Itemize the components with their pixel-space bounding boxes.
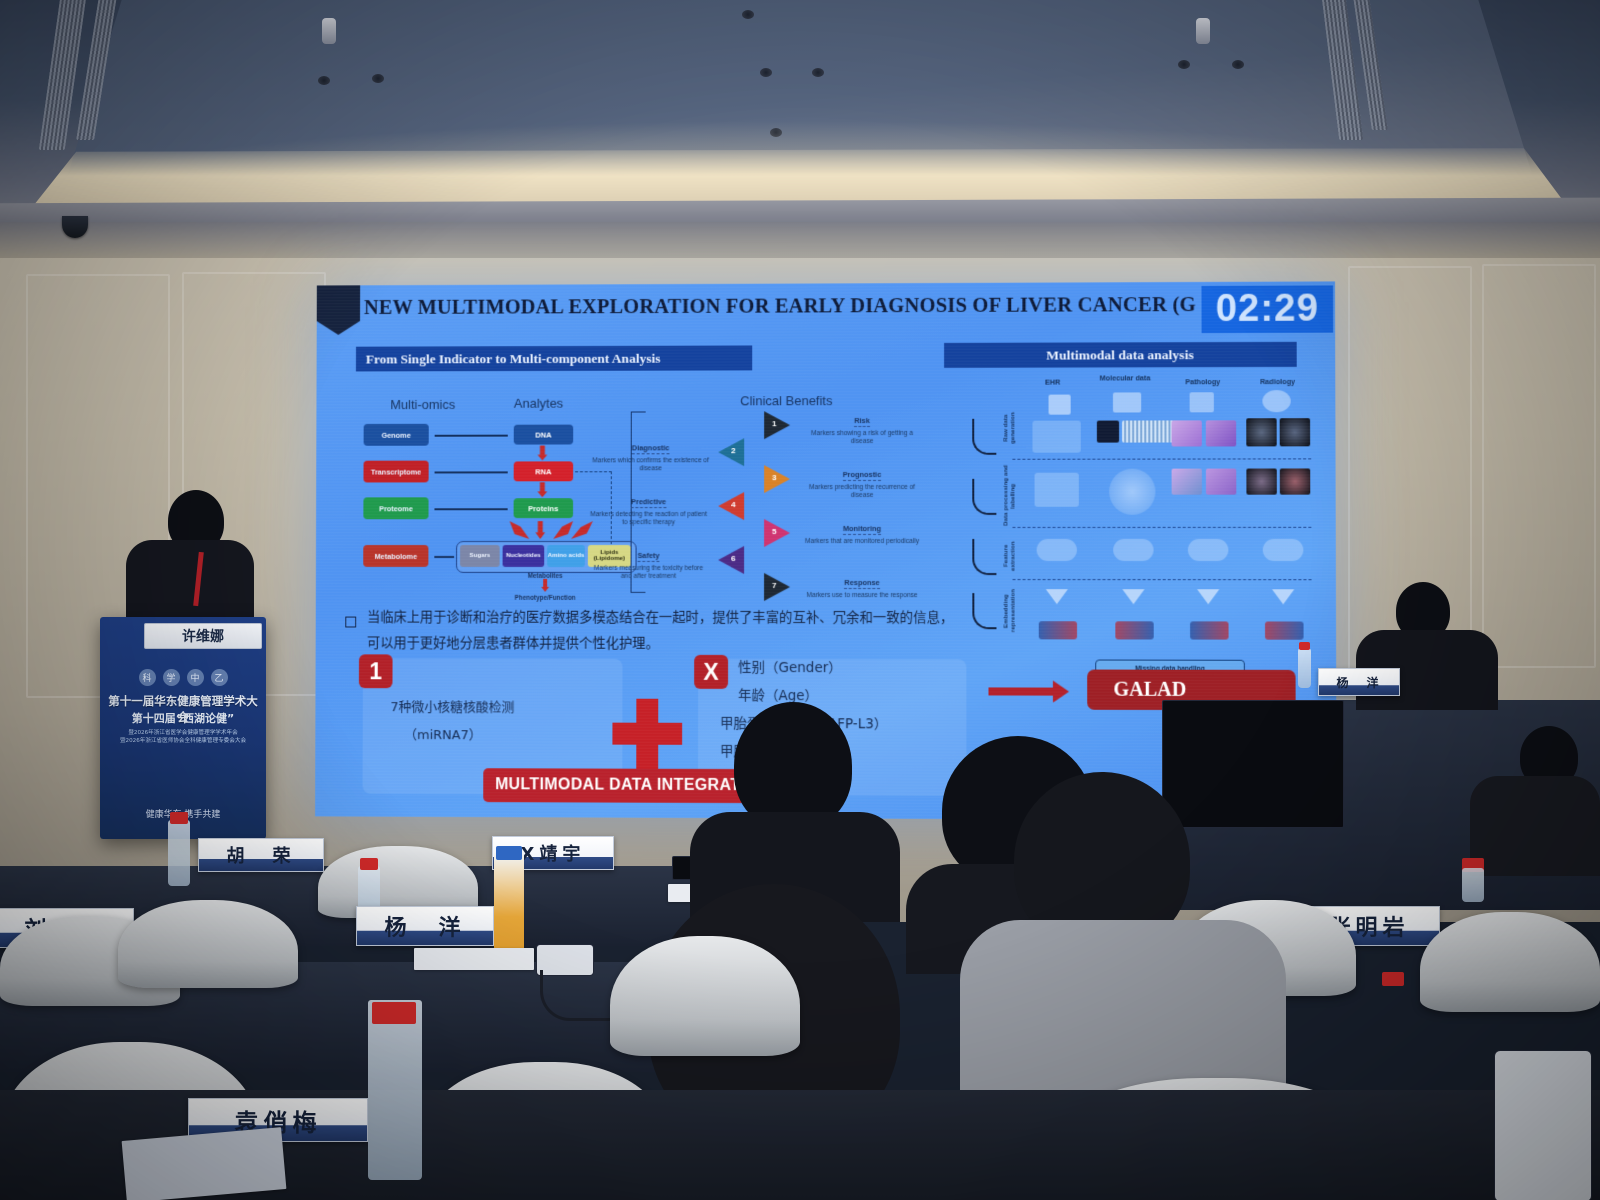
ceiling-downlight-6 [1232,60,1244,69]
connector-metabolome-metabolites [434,556,454,557]
bullet-line-2: 可以用于更好地分层患者群体并提供个性化护理。 [367,634,1005,656]
podium-nameplate: 许维娜 [144,623,262,649]
plus-sign-horizontal [612,723,682,745]
ceiling-downlight-7 [742,10,754,19]
benefit-triangle-1 [764,411,790,439]
mm-row-raw-data: Raw data generation [1002,399,1016,457]
slide-title: NEW MULTIMODAL EXPLORATION FOR EARLY DIA… [364,294,1303,320]
radiology-scan-raw-2 [1280,418,1310,446]
podium-logo-icon-2: 学 [163,669,180,686]
radiology-scan-raw-1 [1246,418,1276,446]
benefit-desc-monitoring: Markers that are monitored periodically [802,538,922,546]
molecular-network-proc [1109,469,1155,515]
funnel-pathology-icon [1197,589,1219,604]
feature-cloud-ehr-icon [1037,539,1077,561]
benefit-name-predictive: Predictive [631,497,666,508]
podium: 许维娜 科 学 中 乙 第十一届华东健康管理学术大会 第十四届“西湖论健” 暨2… [100,617,266,839]
integration-right-badge: X [694,655,728,689]
section-header-left: From Single Indicator to Multi-component… [356,345,752,371]
connector-proteome-proteins [434,508,507,510]
radiology-scan-proc-1 [1246,468,1276,494]
benefit-item-response: Response Markers use to measure the resp… [802,572,922,600]
section-header-right: Multimodal data analysis [944,342,1297,368]
ehr-processing-icon [1035,473,1079,507]
connector-transcriptome-rna [435,471,508,473]
cohort-molecular-icon [1115,621,1153,639]
presentation-timer: 02:29 [1201,285,1333,333]
mm-row-embedding: Embedding representation [1002,583,1016,639]
ehr-network-icon [1032,421,1080,453]
wall-upper-band [0,222,1600,258]
result-arrow-line [988,687,1054,695]
benefit-desc-diagnostic: Markers which confirms the existence of … [591,457,710,474]
ceiling-downlight-3 [760,68,772,77]
benefit-number-2: 2 [731,446,735,455]
clinical-benefits-title: Clinical Benefits [740,393,832,408]
document-front [122,1127,287,1200]
water-bottle-front [368,1000,422,1180]
integration-left-text-2: （miRNA7） [404,724,602,749]
arrow-metabolites-phenotype [541,579,549,592]
chair-row2-b [118,900,298,988]
chair-row2-d [1420,912,1600,1012]
funnel-radiology-icon [1272,589,1294,604]
radiology-scanner-icon [1262,390,1290,412]
laptop-screen [1162,700,1344,828]
benefit-desc-response: Markers use to measure the response [802,592,922,600]
bottle-cap-center [1382,972,1404,986]
feature-cloud-molecular-icon [1113,539,1153,561]
juice-bottle-cap [496,846,522,860]
water-bottle-right-table [1462,868,1484,902]
metabolites-label: Metabolites [486,573,605,580]
integration-left-badge: 1 [359,654,393,688]
funnel-ehr-icon [1046,589,1068,604]
mm-column-ehr: EHR [1024,379,1080,387]
cohort-radiology-icon [1265,621,1304,639]
pathology-slide-proc-1 [1172,469,1202,495]
process-arrow-3-icon [972,539,996,575]
benefit-triangle-5 [764,519,790,547]
metabolite-amino-acids: Amino acids [547,545,585,567]
molecular-sequence-raw [1122,420,1177,442]
benefit-item-predictive: Predictive Markers detecting the reactio… [589,491,708,527]
podium-logo-icon-4: 乙 [211,669,228,686]
bottle-cap-front [372,1002,416,1024]
cohort-ehr-icon [1039,621,1077,639]
wall-panel-4 [1482,264,1596,668]
benefit-name-safety: Safety [637,551,659,562]
funnel-molecular-icon [1122,589,1144,604]
benefit-desc-risk: Markers showing a risk of getting a dise… [802,430,922,447]
benefit-number-3: 3 [772,473,776,482]
cable-row2 [540,970,613,1021]
slide-corner-decor [317,285,360,335]
molecular-heatmap-raw [1097,421,1119,443]
mm-column-molecular: Molecular data [1097,374,1153,382]
mm-column-pathology: Pathology [1173,378,1232,386]
radiology-scan-proc-2 [1280,468,1310,494]
metabolite-sugars: Sugars [460,545,500,567]
benefit-name-response: Response [844,578,879,589]
document-row2 [414,948,534,970]
chair-mid-a [610,936,800,1056]
benefit-name-diagnostic: Diagnostic [632,443,670,454]
bottle-cap-panel [1299,642,1310,650]
bottle-cap-row1-a [170,812,188,824]
benefit-name-prognostic: Prognostic [843,470,882,481]
ceiling-downlight-5 [1178,60,1190,69]
pathology-slide-proc-2 [1206,469,1236,495]
pathology-slide-raw-2 [1206,420,1236,446]
connector-genome-dna [435,435,508,437]
omics-box-proteome: Proteome [363,497,428,519]
arrow-rna-proteins [537,482,547,497]
benefit-desc-safety: Markers measuring the toxicity before an… [589,565,708,581]
omics-box-transcriptome: Transcriptome [363,461,428,483]
audience-body-3 [960,920,1286,1100]
bullet-marker [345,617,356,628]
ehr-icon [1049,395,1071,415]
benefit-name-risk: Risk [854,416,870,427]
bottle-cap-row1-b [360,858,378,870]
benefit-triangle-3 [764,465,790,493]
benefit-item-monitoring: Monitoring Markers that are monitored pe… [802,518,922,546]
analyte-box-dna: DNA [514,425,573,445]
integration-left-text-1: 7种微小核糖核酸检测 [390,696,608,721]
metabolite-nucleotides: Nucleotides [503,545,545,567]
mm-row-feature-extraction: Feature extraction [1002,531,1016,581]
podium-conference-line-2: 第十四届“西湖论健” [108,710,258,726]
arrow-proteins-met-2 [535,521,545,539]
mm-column-radiology: Radiology [1248,378,1307,386]
benefit-number-6: 6 [731,554,735,563]
mm-row-processing: Data processing and labelling [1002,465,1016,527]
cohort-pathology-icon [1190,621,1228,639]
arrow-proteins-met-3 [553,521,573,539]
mm-divider-2 [1012,527,1311,528]
ceiling-spotlight-2 [1196,18,1210,44]
pathology-icon [1190,392,1214,412]
water-bottle-panel [1298,648,1311,688]
podium-logo-icon-3: 中 [187,669,204,686]
benefit-number-1: 1 [772,419,776,428]
molecular-device-icon [1113,392,1141,412]
benefit-item-prognostic: Prognostic Markers predicting the recurr… [802,464,922,501]
panelist-body-right [1470,776,1600,876]
benefit-name-monitoring: Monitoring [843,524,881,535]
benefit-desc-predictive: Markers detecting the reaction of patien… [589,511,708,527]
pathology-slide-raw-1 [1171,420,1201,446]
phone-front-right [1494,1050,1592,1200]
analytes-column-title: Analytes [514,396,563,411]
phenotype-function-label: Phenotype/Function [486,595,605,602]
process-arrow-2-icon [972,479,996,515]
mm-divider-1 [1012,458,1311,459]
nameplate-hurong: 胡 荣 [198,838,324,872]
conference-photo: NEW MULTIMODAL EXPLORATION FOR EARLY DIA… [0,0,1600,1200]
audience-head-1 [734,702,852,830]
benefit-number-5: 5 [772,527,776,536]
benefit-triangle-7 [764,573,790,601]
bullet-line-1: 当临床上用于诊断和治疗的医疗数据多模态结合在一起时，提供了丰富的互补、冗余和一致… [367,609,1005,630]
benefit-desc-prognostic: Markers predicting the recurrence of dis… [802,484,922,501]
feature-cloud-radiology-icon [1263,539,1304,561]
nameplate-yangyang: 杨 洋 [356,906,494,946]
benefit-item-risk: Risk Markers showing a risk of getting a… [802,410,922,447]
arrow-proteins-met-1 [510,521,530,539]
water-bottle-row1-a [168,820,190,886]
omics-box-genome: Genome [364,424,429,446]
analyte-box-rna: RNA [514,461,573,481]
arrow-dna-rna [537,446,547,461]
analyte-box-proteins: Proteins [514,498,574,518]
nameplate-panel-yangyang: 杨 洋 [1318,668,1400,696]
benefit-number-4: 4 [731,500,735,509]
benefit-item-safety: Safety Markers measuring the toxicity be… [589,545,708,581]
omics-column-title: Multi-omics [390,397,455,412]
marker-gender: 性别（Gender） [738,655,842,682]
podium-logo-row: 科 学 中 乙 [128,669,238,686]
podium-subline: 暨2026年浙江省医学会健康管理学学术年会 暨2026年浙江省医师协会全科健康管… [114,729,252,746]
omics-box-metabolome: Metabolome [363,545,428,567]
podium-logo-icon-1: 科 [139,669,156,686]
result-arrow-head-icon [1053,681,1069,703]
ceiling-spotlight-1 [322,18,336,44]
process-arrow-1-icon [972,419,996,455]
ceiling-downlight-1 [318,76,330,85]
ceiling-downlight-2 [372,74,384,83]
ceiling-downlight-4 [812,68,824,77]
benefit-item-diagnostic: Diagnostic Markers which confirms the ex… [591,437,710,474]
feature-cloud-pathology-icon [1188,539,1229,561]
mm-divider-3 [1013,579,1312,580]
benefit-number-7: 7 [772,581,776,590]
